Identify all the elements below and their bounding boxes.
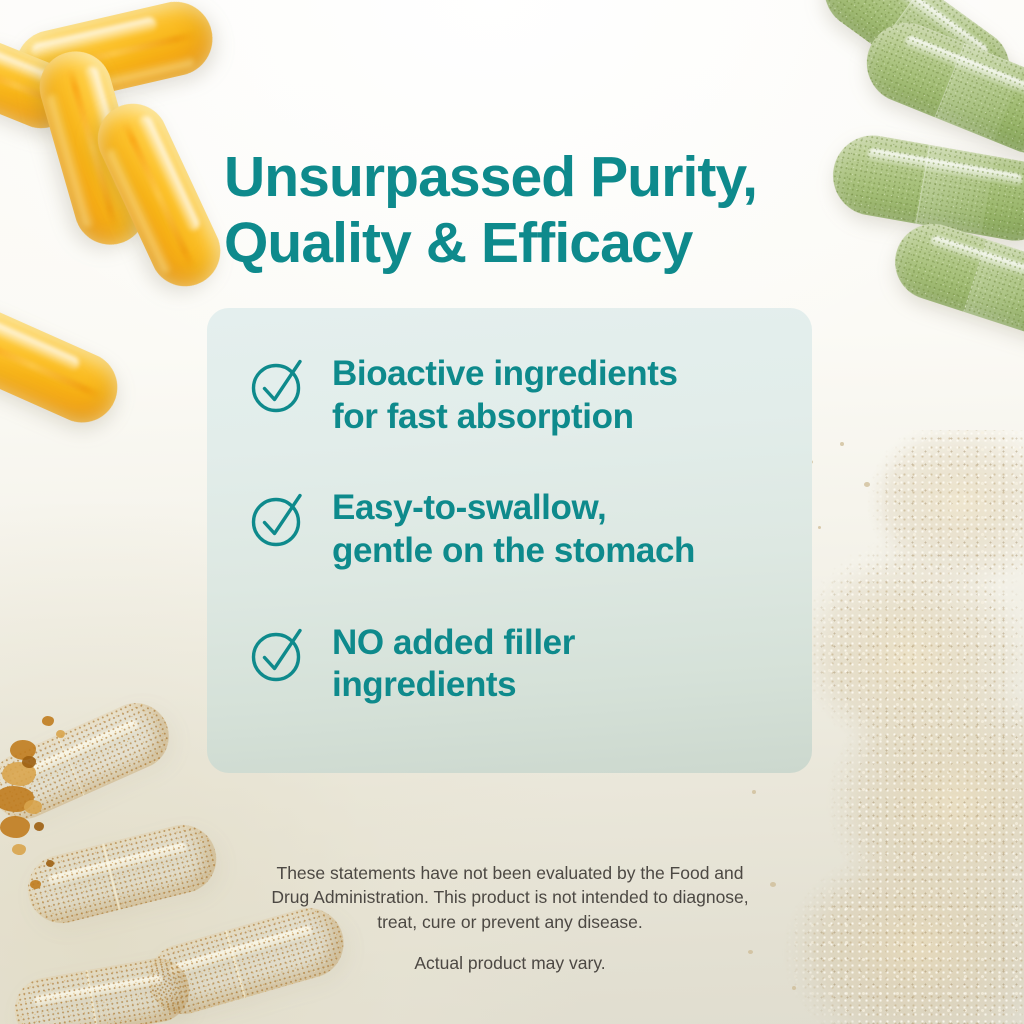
- fda-disclaimer: These statements have not been evaluated…: [196, 861, 824, 936]
- list-item-label: NO added filler ingredients: [332, 621, 575, 707]
- infographic-canvas: Unsurpassed Purity, Quality & Efficacy B…: [0, 0, 1024, 1024]
- list-item: Easy-to-swallow, gentle on the stomach: [248, 486, 786, 572]
- list-item-label: Bioactive ingredients for fast absorptio…: [332, 352, 678, 438]
- benefits-list: Bioactive ingredients for fast absorptio…: [248, 352, 786, 707]
- list-item-label: Easy-to-swallow, gentle on the stomach: [332, 486, 695, 572]
- page-title: Unsurpassed Purity, Quality & Efficacy: [224, 144, 844, 276]
- capsule-band: [915, 145, 995, 235]
- capsule-band: [56, 735, 84, 796]
- list-item: Bioactive ingredients for fast absorptio…: [248, 352, 786, 438]
- benefits-card: Bioactive ingredients for fast absorptio…: [207, 308, 812, 773]
- capsule-band: [103, 843, 121, 909]
- check-circle-icon: [248, 488, 310, 550]
- check-circle-icon: [248, 623, 310, 685]
- capsule-band: [86, 970, 99, 1024]
- product-variation-note: Actual product may vary.: [196, 951, 824, 976]
- check-circle-icon: [248, 354, 310, 416]
- list-item: NO added filler ingredients: [248, 621, 786, 707]
- capsule-highlight: [33, 974, 163, 1007]
